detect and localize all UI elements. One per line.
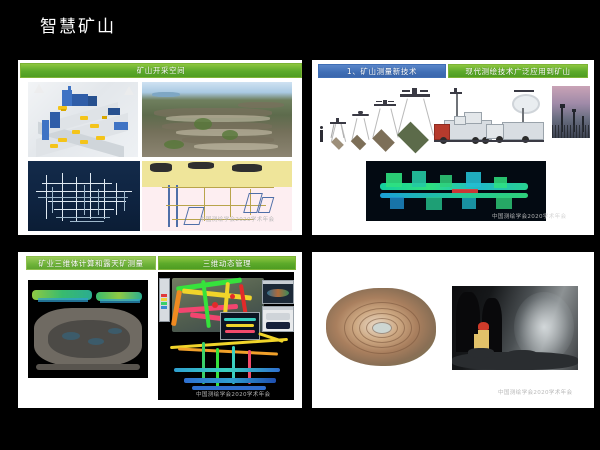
underground-tunnel-network bbox=[28, 161, 140, 231]
open-pit-point-cloud bbox=[28, 280, 148, 378]
slide-canvas: 智慧矿山 矿山开采空间 bbox=[0, 0, 600, 450]
panel-bottom-right: 中国测绘学会2020学术年会 bbox=[312, 252, 594, 408]
watermark-bottom-right: 中国测绘学会2020学术年会 bbox=[498, 388, 572, 396]
isometric-mine-schematic bbox=[28, 82, 138, 157]
underground-mining-photo bbox=[452, 286, 578, 370]
watermark-bottom-left: 中国测绘学会2020学术年会 bbox=[196, 390, 270, 398]
three-d-mine-model bbox=[158, 272, 294, 400]
watermark-top-right: 中国测绘学会2020学术年会 bbox=[492, 212, 566, 220]
uav-lidar-scanning-array bbox=[316, 82, 590, 160]
panel-top-left: 矿山开采空间 bbox=[18, 60, 302, 235]
ribbon-mine-mining-space: 矿山开采空间 bbox=[20, 63, 302, 78]
panel-bottom-left: 矿业三维体计算和露天矿测量 三维动态管理 bbox=[18, 252, 302, 408]
ribbon-modern-surveying-applied: 现代测绘技术广泛应用到矿山 bbox=[448, 64, 588, 78]
ribbon-three-d-dynamic-management: 三维动态管理 bbox=[158, 256, 296, 270]
page-title: 智慧矿山 bbox=[40, 12, 116, 37]
aerial-open-pit-photo bbox=[142, 82, 292, 157]
monitoring-tower-photo bbox=[552, 86, 590, 138]
ribbon-volume-calc-open-pit-survey: 矿业三维体计算和露天矿测量 bbox=[26, 256, 156, 270]
orebody-terrain-model bbox=[326, 288, 436, 366]
watermark-top-left: 中国测绘学会2020学术年会 bbox=[200, 215, 274, 223]
panel-top-right: 1、矿山测量新技术 现代测绘技术广泛应用到矿山 bbox=[312, 60, 594, 235]
ribbon-mine-survey-new-tech: 1、矿山测量新技术 bbox=[318, 64, 446, 78]
